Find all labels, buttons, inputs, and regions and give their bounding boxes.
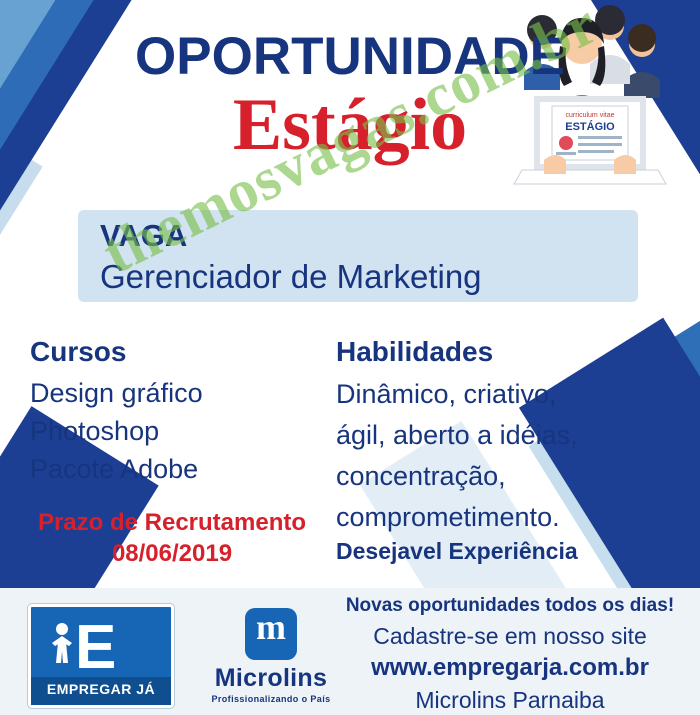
deadline-date: 08/06/2019 [22,538,322,570]
title-internship: Estágio [0,82,700,168]
courses-item: Design gráfico [30,374,330,412]
microlins-name: Microlins [196,664,346,693]
empregar-name: EMPREGAR JÁ [31,681,171,697]
skills-section: Habilidades Dinâmico, criativo, ágil, ab… [336,336,676,538]
footer-tagline: Novas oportunidades todos os dias! [330,592,690,620]
microlins-tagline: Profissionalizando o País [196,694,346,704]
footer-unit: Microlins Parnaiba [330,684,690,715]
logo-empregar-ja[interactable]: E EMPREGAR JÁ [28,604,174,708]
footer-text-block: Novas oportunidades todos os dias! Cadas… [330,592,690,715]
poster: curriculum vitae ESTÁGIO OPORTUNIDADE Es… [0,0,700,715]
skills-item: ágil, aberto a idéias, [336,415,676,456]
vacancy-label: VAGA [100,218,187,254]
courses-section: Cursos Design gráfico Photoshop Pacote A… [30,336,330,488]
title-opportunity: OPORTUNIDADE [0,26,700,88]
deadline-label: Prazo de Recrutamento [22,508,322,538]
logo-microlins[interactable]: m Microlins Profissionalizando o País [196,608,346,703]
poster-title: OPORTUNIDADE Estágio [0,26,700,168]
empregar-letter: E [75,617,116,679]
skills-item: comprometimento. [336,497,676,538]
vacancy-role: Gerenciador de Marketing [100,258,482,296]
person-icon [49,621,75,667]
courses-heading: Cursos [30,336,330,368]
skills-note: Desejavel Experiência [336,538,578,565]
deadline-block: Prazo de Recrutamento 08/06/2019 [22,508,322,570]
courses-item: Pacote Adobe [30,450,330,488]
courses-item: Photoshop [30,412,330,450]
skills-heading: Habilidades [336,336,676,368]
footer-website[interactable]: www.empregarja.com.br [330,652,690,684]
footer-cta: Cadastre-se em nosso site [330,620,690,652]
microlins-mark-letter: m [245,606,297,648]
skills-item: Dinâmico, criativo, [336,374,676,415]
microlins-mark: m [245,608,297,660]
skills-item: concentração, [336,456,676,497]
